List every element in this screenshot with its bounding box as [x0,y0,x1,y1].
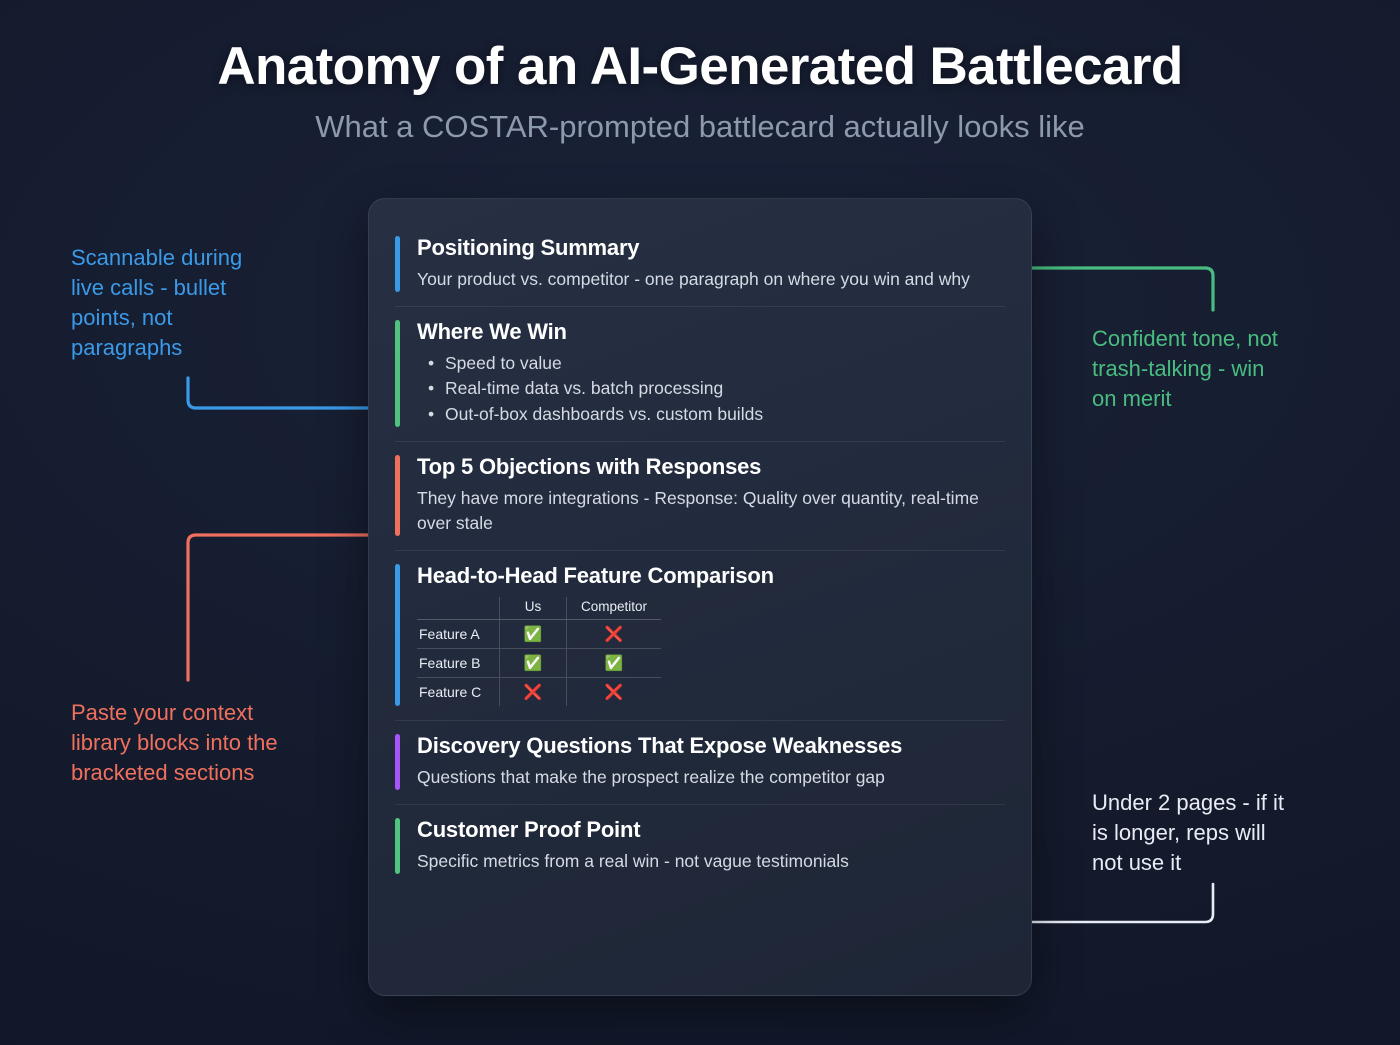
check-icon: ✅ [524,655,543,672]
annotation-confident-tone: Confident tone, not trash-talking - win … [1092,324,1377,414]
list-item: Out-of-box dashboards vs. custom builds [445,402,1005,428]
section-title: Customer Proof Point [417,817,1005,844]
card-section-discovery-questions: Discovery Questions That Expose Weakness… [395,721,1005,805]
section-body: Specific metrics from a real win - not v… [417,849,1002,874]
card-section-customer-proof-point: Customer Proof Point Specific metrics fr… [395,805,1005,888]
column-header-us: Us [500,597,567,620]
feature-comparison-table: Us Competitor Feature A ✅ ❌ Feature B ✅ [417,597,661,706]
section-title: Top 5 Objections with Responses [417,454,1005,481]
section-accent-bar [395,564,400,707]
check-icon: ✅ [524,626,543,643]
connector-green [1006,268,1213,310]
table-body: Feature A ✅ ❌ Feature B ✅ ✅ Feature C ❌ [417,620,661,707]
page-subtitle: What a COSTAR-prompted battlecard actual… [0,109,1400,145]
cell-competitor: ❌ [567,678,662,707]
cross-icon: ❌ [605,684,624,701]
annotation-paste-context: Paste your context library blocks into t… [71,698,371,788]
table-row: Feature C ❌ ❌ [417,678,661,707]
section-body: Your product vs. competitor - one paragr… [417,267,1002,292]
section-body: They have more integrations - Response: … [417,486,1002,536]
section-title: Head-to-Head Feature Comparison [417,563,1005,590]
section-body: Questions that make the prospect realize… [417,765,1002,790]
annotation-under-two-pages: Under 2 pages - if it is longer, reps wi… [1092,788,1377,878]
win-bullet-list: Speed to value Real-time data vs. batch … [417,351,1005,428]
card-section-where-we-win: Where We Win Speed to value Real-time da… [395,307,1005,442]
table-row: Feature B ✅ ✅ [417,649,661,678]
connector-blue [188,378,398,408]
cell-us: ✅ [500,649,567,678]
feature-label: Feature B [417,649,500,678]
cross-icon: ❌ [605,626,624,643]
annotation-scannable: Scannable during live calls - bullet poi… [71,243,361,363]
column-header-competitor: Competitor [567,597,662,620]
card-section-positioning-summary: Positioning Summary Your product vs. com… [395,223,1005,307]
card-section-feature-comparison: Head-to-Head Feature Comparison Us Compe… [395,551,1005,722]
connector-white [1006,884,1213,922]
section-title: Discovery Questions That Expose Weakness… [417,733,1005,760]
list-item: Real-time data vs. batch processing [445,376,1005,402]
comparison-table-wrapper: Us Competitor Feature A ✅ ❌ Feature B ✅ [417,597,1005,706]
connector-red [188,535,398,680]
section-accent-bar [395,236,400,292]
check-icon: ✅ [605,655,624,672]
section-accent-bar [395,320,400,427]
feature-label: Feature A [417,620,500,649]
feature-label: Feature C [417,678,500,707]
cell-competitor: ❌ [567,620,662,649]
cell-us: ❌ [500,678,567,707]
section-title: Where We Win [417,319,1005,346]
cross-icon: ❌ [524,684,543,701]
header: Anatomy of an AI-Generated Battlecard Wh… [0,38,1400,145]
cell-us: ✅ [500,620,567,649]
page-title: Anatomy of an AI-Generated Battlecard [0,38,1400,95]
section-title: Positioning Summary [417,235,1005,262]
table-corner-cell [417,597,500,620]
cell-competitor: ✅ [567,649,662,678]
section-accent-bar [395,734,400,790]
table-row: Feature A ✅ ❌ [417,620,661,649]
list-item: Speed to value [445,351,1005,377]
card-section-top-objections: Top 5 Objections with Responses They hav… [395,442,1005,551]
section-accent-bar [395,455,400,536]
battlecard: Positioning Summary Your product vs. com… [368,198,1032,996]
table-header-row: Us Competitor [417,597,661,620]
table-header: Us Competitor [417,597,661,620]
infographic-page: Anatomy of an AI-Generated Battlecard Wh… [0,0,1400,1045]
section-accent-bar [395,818,400,874]
